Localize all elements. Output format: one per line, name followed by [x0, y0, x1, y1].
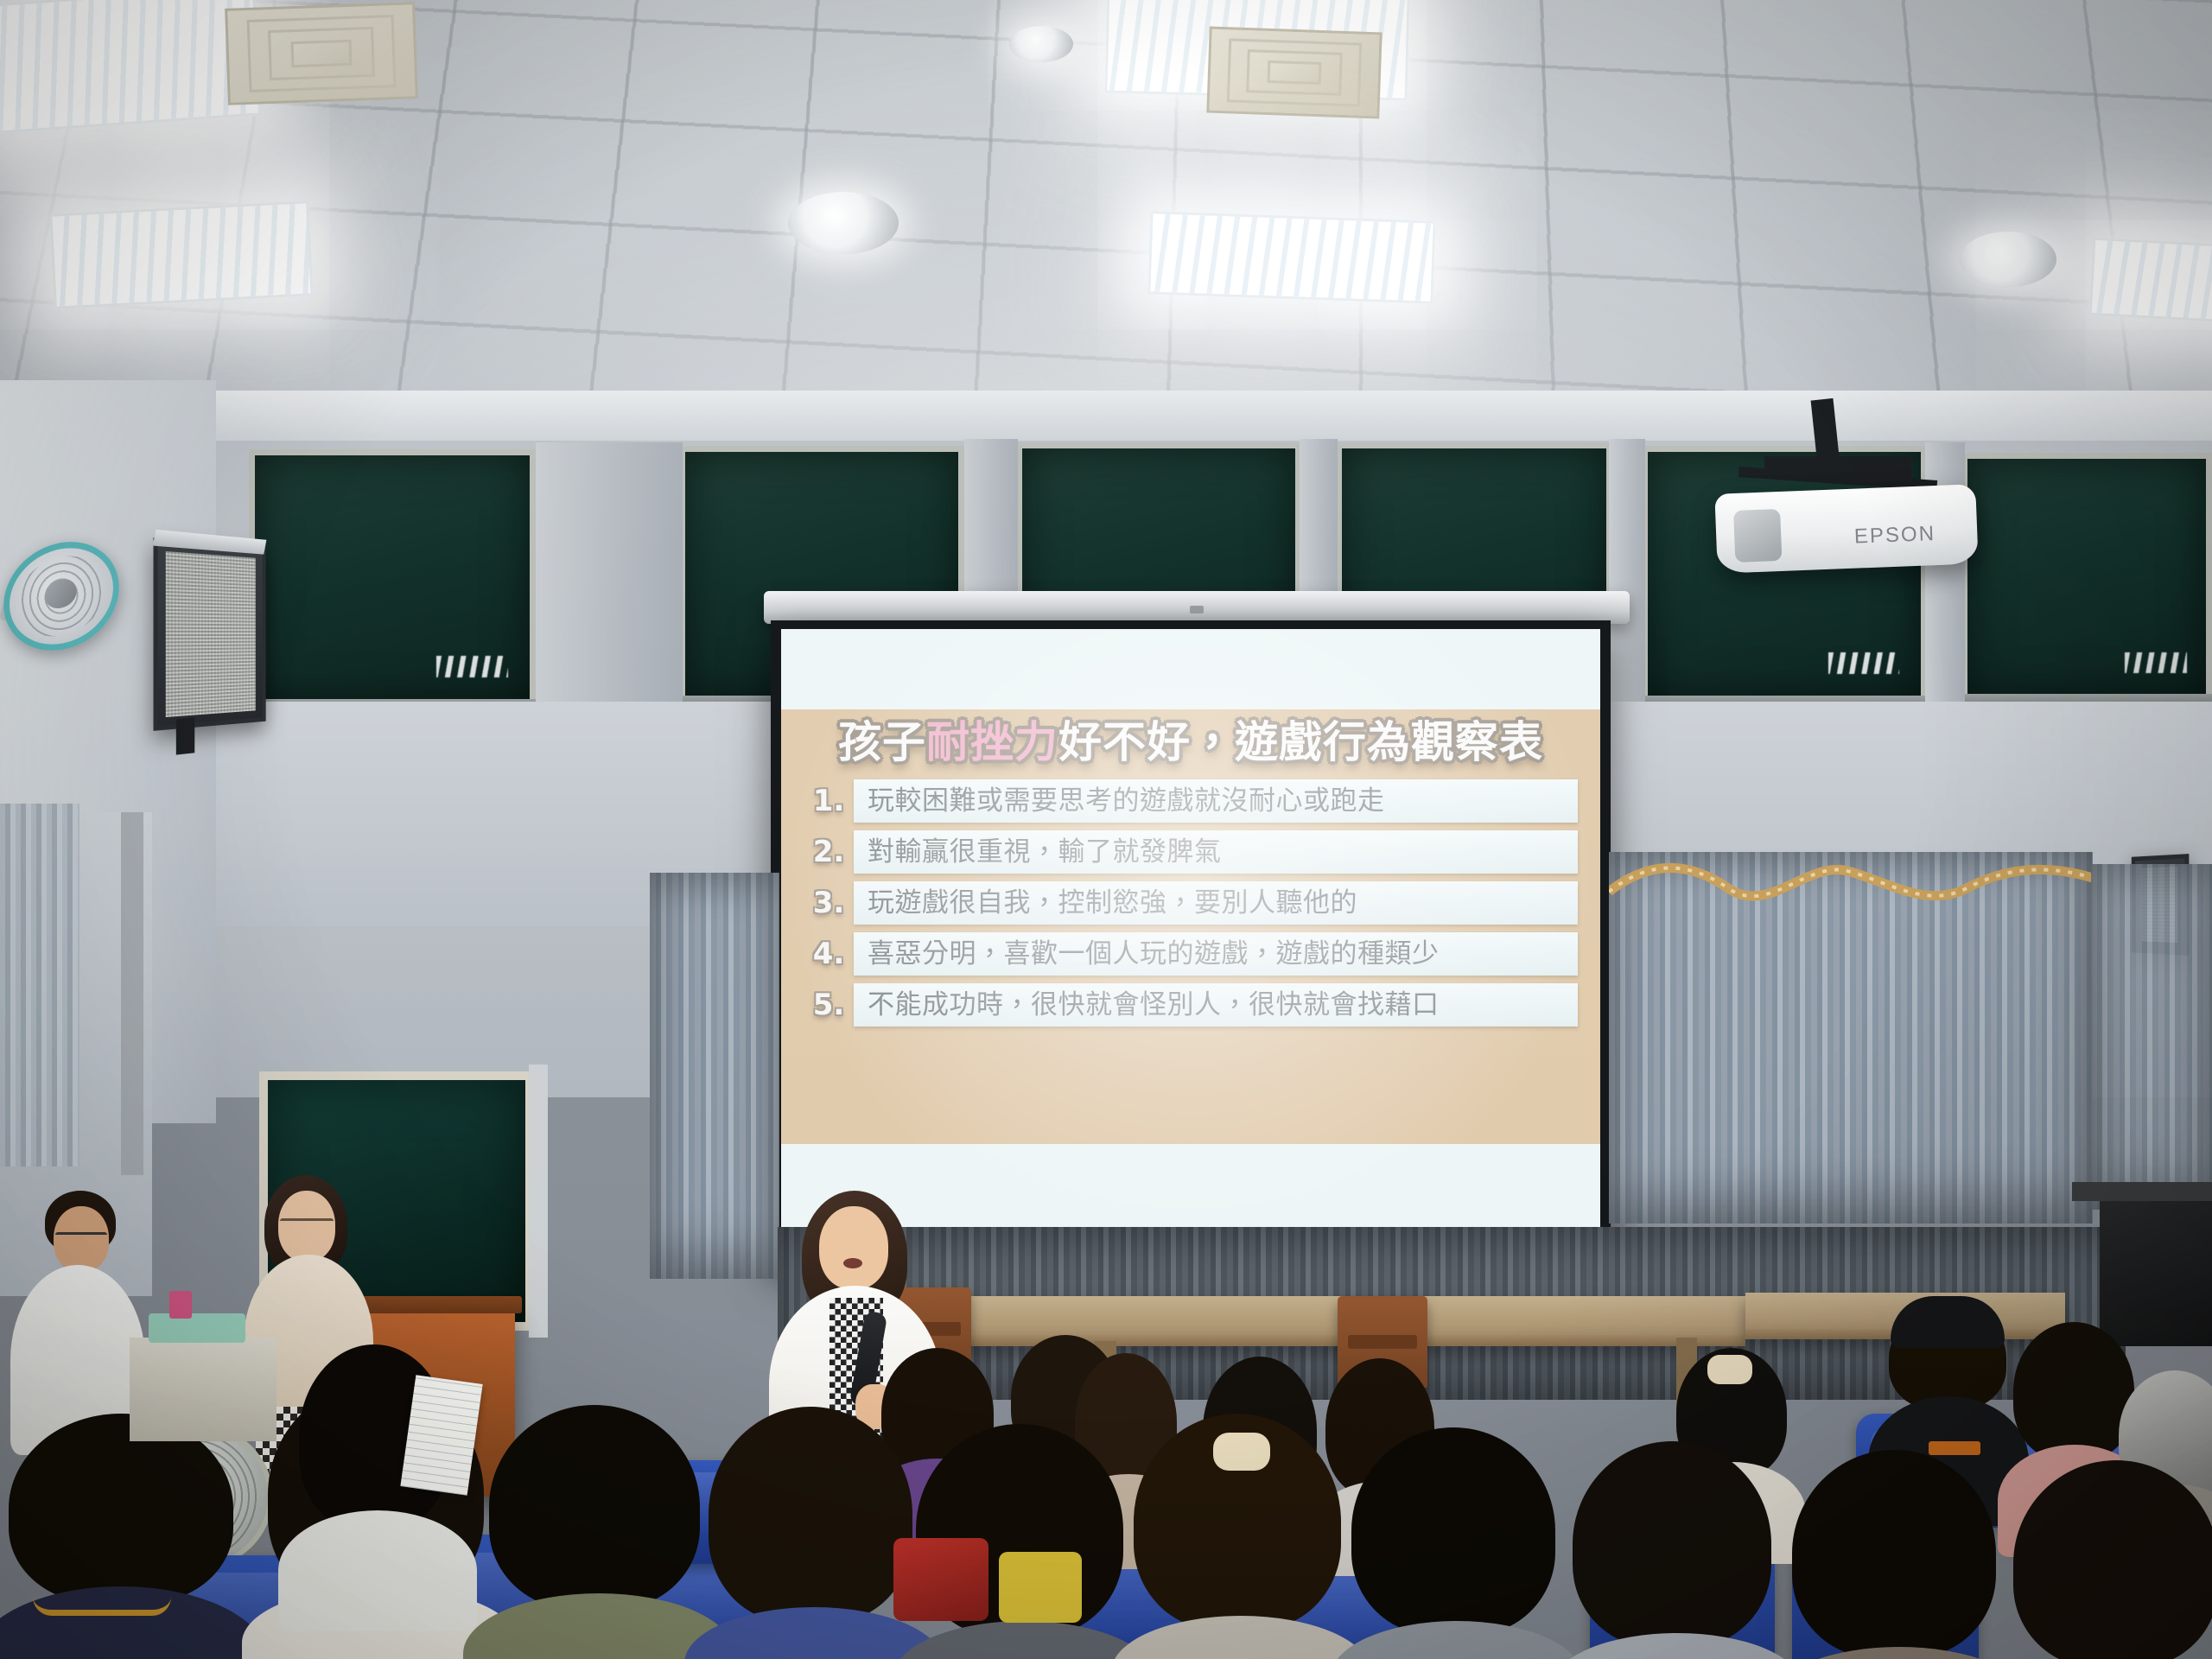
slide-list-item: 5. 不能成功時，很快就會怪別人，很快就會找藉口 — [804, 983, 1578, 1027]
slide-item-number: 1. — [804, 779, 854, 823]
audience-hair — [1792, 1450, 1996, 1657]
slide-item-bar: 不能成功時，很快就會怪別人，很快就會找藉口 — [854, 983, 1578, 1027]
audience-torso — [1554, 1633, 1801, 1659]
table-cup — [169, 1291, 192, 1319]
slide-top-margin — [781, 629, 1600, 709]
audience-hair — [9, 1414, 233, 1604]
slide-title-highlight: 耐挫力 — [926, 717, 1058, 767]
slide-list-item: 4. 喜惡分明，喜歡一個人玩的遊戲，遊戲的種類少 — [804, 932, 1578, 976]
slide-item-bar: 對輸贏很重視，輸了就發脾氣 — [854, 830, 1578, 874]
side-table — [130, 1338, 276, 1441]
audience-torso — [278, 1510, 477, 1631]
slide-item-bar: 玩遊戲很自我，控制慾強，要別人聽他的 — [854, 881, 1578, 925]
baseball-cap — [1891, 1296, 2005, 1348]
ceiling-light-panel — [0, 0, 264, 134]
slide-title-prefix: 孩子 — [838, 717, 926, 767]
projector-brand-label: EPSON — [1854, 522, 1936, 550]
slide-item-text: 對輸贏很重視，輸了就發脾氣 — [868, 837, 1222, 867]
audience-member-foreground — [489, 1405, 700, 1659]
presenter-head — [819, 1206, 888, 1289]
stage-curtain-right — [1609, 852, 2093, 1224]
projection-screen-housing — [764, 591, 1630, 624]
yellow-jacket — [999, 1552, 1082, 1623]
left-wall-curtain — [0, 804, 79, 1166]
audience-member-foreground — [1792, 1450, 1996, 1659]
hair-clip — [1707, 1355, 1752, 1384]
ceiling-sensor — [1009, 26, 1073, 62]
audience-member-foreground — [2013, 1460, 2212, 1659]
slide-item-number: 4. — [804, 932, 854, 976]
host-glasses — [280, 1218, 334, 1230]
slide-item-number: 3. — [804, 881, 854, 925]
wall-pier — [536, 442, 683, 715]
slide-list-item: 2. 對輸贏很重視，輸了就發脾氣 — [804, 830, 1578, 874]
curtain-swag-tassels — [1609, 852, 2093, 914]
fan-head — [0, 525, 130, 667]
audience-member-foreground — [1351, 1427, 1555, 1659]
wall-speaker — [154, 537, 266, 731]
audience-member-foreground — [709, 1407, 912, 1659]
window-panel — [249, 449, 536, 709]
slide-item-text: 不能成功時，很快就會怪別人，很快就會找藉口 — [868, 990, 1440, 1020]
recessed-downlight — [1960, 232, 2056, 287]
slide-item-text: 玩較困難或需要思考的遊戲就沒耐心或跑走 — [868, 786, 1385, 816]
ceiling-light-panel — [1147, 211, 1435, 303]
slide-item-bar: 喜惡分明，喜歡一個人玩的遊戲，遊戲的種類少 — [854, 932, 1578, 976]
audience-member-foreground — [9, 1414, 233, 1659]
wall-mounted-fan — [0, 531, 143, 677]
audience-torso — [1331, 1621, 1583, 1659]
audience-torso — [1773, 1647, 2025, 1659]
slide-item-text: 玩遊戲很自我，控制慾強，要別人聽他的 — [868, 888, 1357, 918]
slide-title: 孩子耐挫力好不好，遊戲行為觀察表 — [804, 720, 1578, 766]
projector: EPSON — [1714, 484, 1978, 574]
gold-necklace — [33, 1597, 171, 1616]
projector-lens — [1733, 509, 1782, 563]
table-items — [149, 1313, 245, 1343]
wall-pier — [1609, 439, 1645, 714]
slide-item-number: 5. — [804, 983, 854, 1027]
projection-screen-surface: 孩子耐挫力好不好，遊戲行為觀察表 1. 玩較困難或需要思考的遊戲就沒耐心或跑走 … — [781, 629, 1600, 1249]
audience-hair — [2013, 1460, 2212, 1659]
audience-hair — [489, 1405, 700, 1609]
audience-member-foreground — [1134, 1414, 1341, 1659]
audience-hair — [1351, 1427, 1555, 1635]
audience-member-foreground — [1573, 1441, 1771, 1659]
slide-content-band: 孩子耐挫力好不好，遊戲行為觀察表 1. 玩較困難或需要思考的遊戲就沒耐心或跑走 … — [781, 709, 1600, 1144]
chalkboard-frame-right — [529, 1065, 548, 1338]
slide-title-suffix: 好不好，遊戲行為觀察表 — [1058, 717, 1543, 767]
slide-list-item: 3. 玩遊戲很自我，控制慾強，要別人聽他的 — [804, 881, 1578, 925]
piano-top-lid — [2072, 1182, 2212, 1201]
slide-item-bar: 玩較困難或需要思考的遊戲就沒耐心或跑走 — [854, 779, 1578, 823]
slide: 孩子耐挫力好不好，遊戲行為觀察表 1. 玩較困難或需要思考的遊戲就沒耐心或跑走 … — [781, 629, 1600, 1249]
ceiling-beam — [0, 391, 2212, 441]
presenter-mouth — [843, 1258, 862, 1268]
standing-attendee-glasses — [55, 1232, 107, 1243]
standing-attendee — [17, 1191, 138, 1450]
audience-torso — [1111, 1616, 1370, 1659]
door-frame — [121, 812, 143, 1175]
ac-diffuser-vent — [1206, 27, 1382, 119]
window-panel — [1961, 453, 2212, 703]
slide-item-list: 1. 玩較困難或需要思考的遊戲就沒耐心或跑走 2. 對輸贏很重視，輸了就發脾氣 — [804, 779, 1578, 1130]
audience-hair — [1573, 1441, 1771, 1647]
recessed-downlight — [788, 192, 899, 254]
stage-table — [838, 1296, 1745, 1346]
stage-curtain-far-right — [2091, 864, 2212, 1210]
audience-hair — [709, 1407, 912, 1623]
ceiling-light-panel — [49, 200, 313, 309]
hair-clip — [1213, 1433, 1270, 1471]
lecture-hall-photo: EPSON 孩子耐挫力好不好，遊戲行為觀察表 1. 玩較困難或需要思考的遊戲就沒… — [0, 0, 2212, 1659]
audience-hair — [2013, 1322, 2134, 1460]
slide-item-text: 喜惡分明，喜歡一個人玩的遊戲，遊戲的種類少 — [868, 939, 1440, 969]
ac-diffuser-vent — [225, 2, 418, 105]
slide-item-number: 2. — [804, 830, 854, 874]
slide-list-item: 1. 玩較困難或需要思考的遊戲就沒耐心或跑走 — [804, 779, 1578, 823]
projection-screen-frame: 孩子耐挫力好不好，遊戲行為觀察表 1. 玩較困難或需要思考的遊戲就沒耐心或跑走 … — [771, 620, 1611, 1263]
audience-torso — [893, 1621, 1154, 1659]
red-bag — [893, 1538, 988, 1621]
ceiling-light-panel — [2089, 238, 2212, 324]
